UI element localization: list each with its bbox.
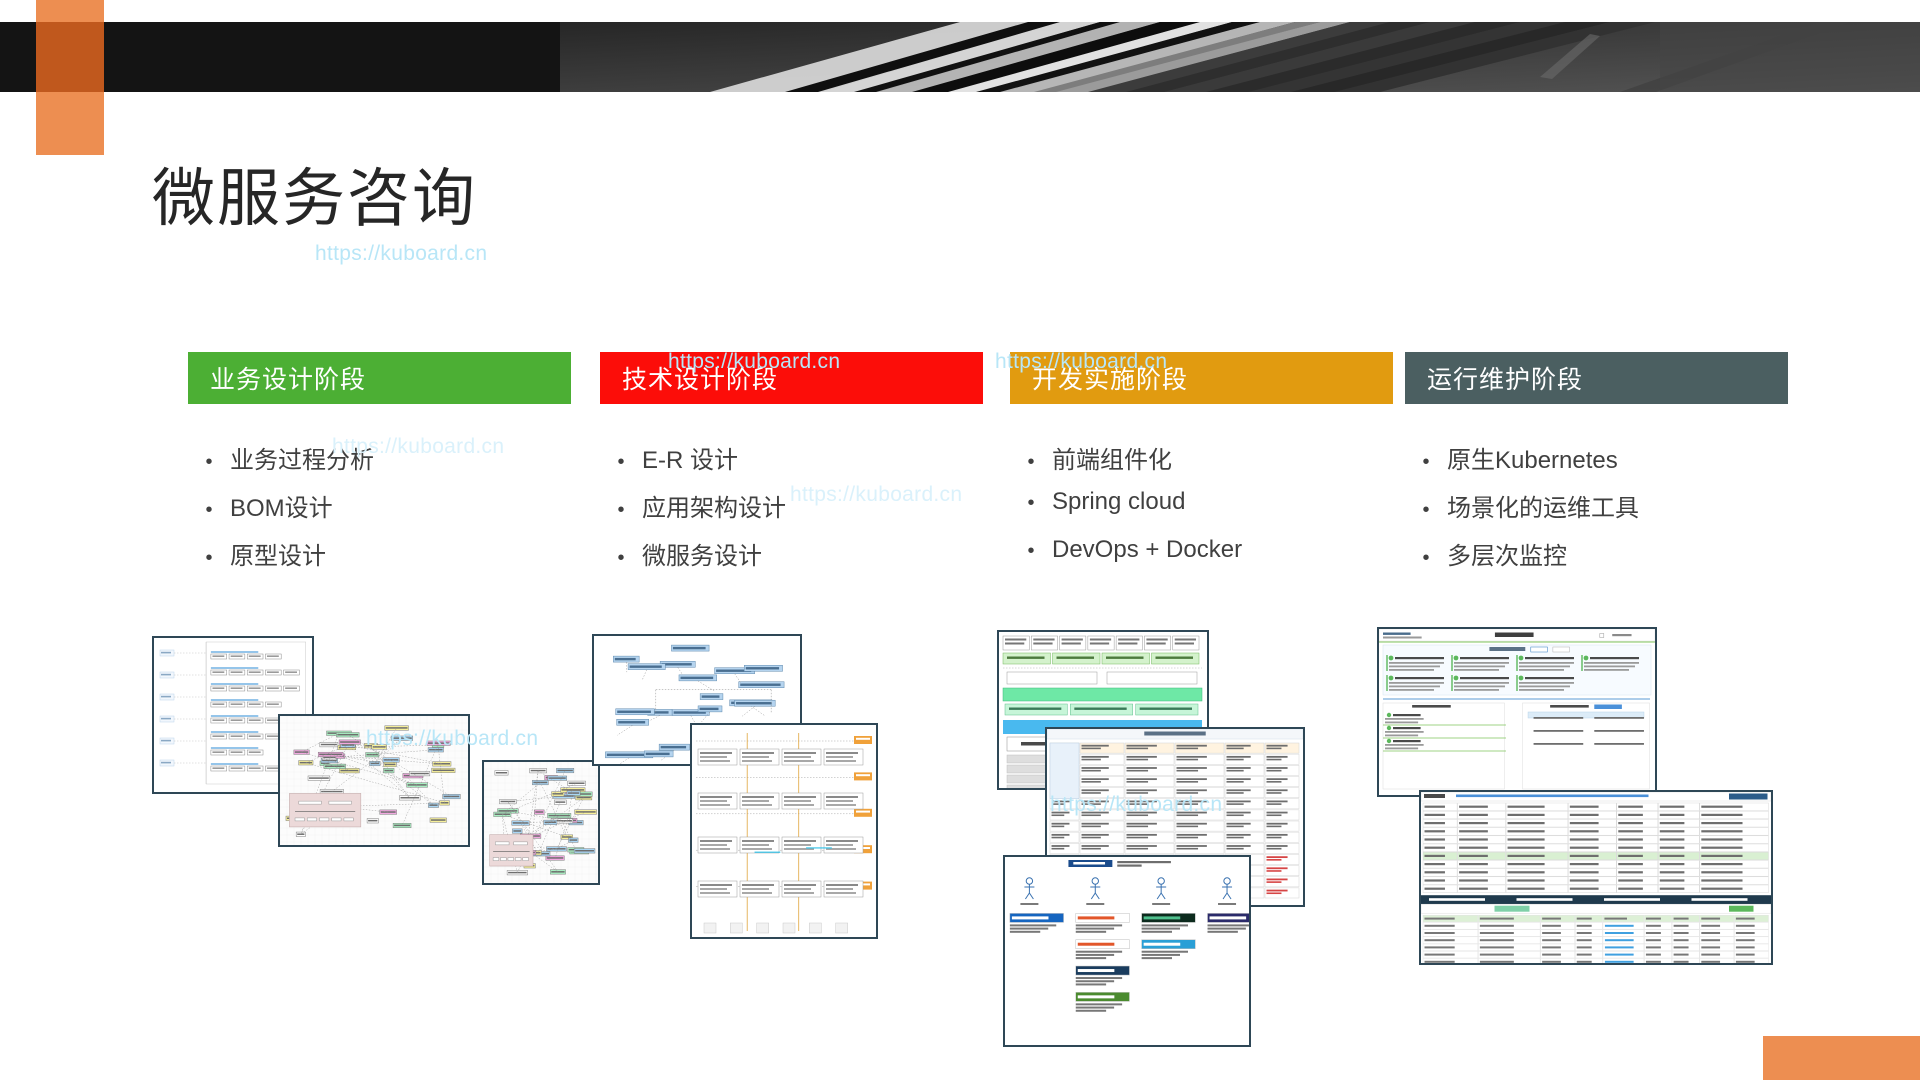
bullet-label: E-R 设计 (642, 440, 738, 475)
bullet-dot-icon: • (600, 500, 642, 520)
bullet-dot-icon: • (1405, 500, 1447, 520)
list-item: • 微服务设计 (600, 536, 983, 584)
thumbnail-image (484, 762, 598, 883)
bullet-label: BOM设计 (230, 488, 333, 523)
phase-bullet-list-operations: • 原生Kubernetes • 场景化的运维工具 • 多层次监控 (1405, 440, 1788, 584)
thumbnail-image (280, 716, 468, 845)
watermark-text: https://kuboard.cn (315, 242, 487, 266)
phase-bullet-list-development: • 前端组件化 • Spring cloud • DevOps + Docker (1010, 440, 1393, 584)
phase-header-operations[interactable]: 运行维护阶段 (1405, 352, 1788, 404)
thumbnail-monitoring-table[interactable] (1419, 790, 1773, 965)
bullet-label: 应用架构设计 (642, 488, 786, 523)
phase-header-label: 技术设计阶段 (622, 360, 778, 396)
architecture-photo (560, 22, 1920, 92)
bullet-label: DevOps + Docker (1052, 536, 1242, 564)
list-item: • DevOps + Docker (1010, 536, 1393, 584)
orange-accent-bar-left-overlap (36, 22, 104, 92)
list-item: • 业务过程分析 (188, 440, 571, 488)
list-item: • E-R 设计 (600, 440, 983, 488)
phase-header-business-design[interactable]: 业务设计阶段 (188, 352, 571, 404)
bullet-label: 场景化的运维工具 (1447, 488, 1639, 523)
phase-column-business-design: 业务设计阶段 • 业务过程分析 • BOM设计 • 原型设计 (188, 352, 571, 584)
phase-header-development[interactable]: 开发实施阶段 (1010, 352, 1393, 404)
orange-accent-bar-bottom-right (1763, 1036, 1920, 1080)
thumbnail-image (692, 725, 876, 937)
thumbnail-bom-mindmap[interactable] (278, 714, 470, 847)
bullet-label: 原生Kubernetes (1447, 440, 1618, 475)
thumbnail-image (1005, 857, 1249, 1045)
list-item: • 场景化的运维工具 (1405, 488, 1788, 536)
bullet-label: 多层次监控 (1447, 536, 1567, 571)
phase-header-label: 运行维护阶段 (1427, 360, 1583, 396)
bullet-dot-icon: • (1010, 493, 1052, 513)
thumbnail-microservice-architecture[interactable] (690, 723, 878, 939)
bullet-dot-icon: • (188, 500, 230, 520)
thumbnail-kuboard-overview[interactable] (1377, 627, 1657, 797)
bullet-dot-icon: • (1405, 452, 1447, 472)
list-item: • 原型设计 (188, 536, 571, 584)
page-title: 微服务咨询 (152, 168, 477, 231)
phase-header-technical-design[interactable]: 技术设计阶段 (600, 352, 983, 404)
bullet-dot-icon: • (1405, 548, 1447, 568)
phase-header-label: 业务设计阶段 (210, 360, 366, 396)
thumbnail-image (1379, 629, 1655, 795)
bullet-dot-icon: • (600, 452, 642, 472)
bullet-label: 前端组件化 (1052, 440, 1172, 475)
bullet-label: 业务过程分析 (230, 440, 374, 475)
phase-column-development: 开发实施阶段 • 前端组件化 • Spring cloud • DevOps +… (1010, 352, 1393, 584)
bullet-label: Spring cloud (1052, 488, 1185, 516)
list-item: • 前端组件化 (1010, 440, 1393, 488)
phase-column-technical-design: 技术设计阶段 • E-R 设计 • 应用架构设计 • 微服务设计 (600, 352, 983, 584)
bullet-dot-icon: • (600, 548, 642, 568)
building-graphic-icon (560, 22, 1920, 92)
bullet-label: 微服务设计 (642, 536, 762, 571)
phase-header-label: 开发实施阶段 (1032, 360, 1188, 396)
phase-bullet-list-technical-design: • E-R 设计 • 应用架构设计 • 微服务设计 (600, 440, 983, 584)
bullet-label: 原型设计 (230, 536, 326, 571)
list-item: • 多层次监控 (1405, 536, 1788, 584)
bullet-dot-icon: • (1010, 541, 1052, 561)
phase-bullet-list-business-design: • 业务过程分析 • BOM设计 • 原型设计 (188, 440, 571, 584)
thumbnail-er-diagram-small[interactable] (482, 760, 600, 885)
bullet-dot-icon: • (1010, 452, 1052, 472)
list-item: • Spring cloud (1010, 488, 1393, 536)
thumbnail-devops-toolchain[interactable] (1003, 855, 1251, 1047)
header-photo-band (0, 22, 1920, 92)
bullet-dot-icon: • (188, 452, 230, 472)
list-item: • 应用架构设计 (600, 488, 983, 536)
phase-column-operations: 运行维护阶段 • 原生Kubernetes • 场景化的运维工具 • 多层次监控 (1405, 352, 1788, 584)
thumbnail-image (1421, 792, 1771, 963)
bullet-dot-icon: • (188, 548, 230, 568)
list-item: • 原生Kubernetes (1405, 440, 1788, 488)
slide-canvas: 微服务咨询 业务设计阶段 • 业务过程分析 • BOM设计 • 原型设计 (0, 0, 1920, 1080)
list-item: • BOM设计 (188, 488, 571, 536)
